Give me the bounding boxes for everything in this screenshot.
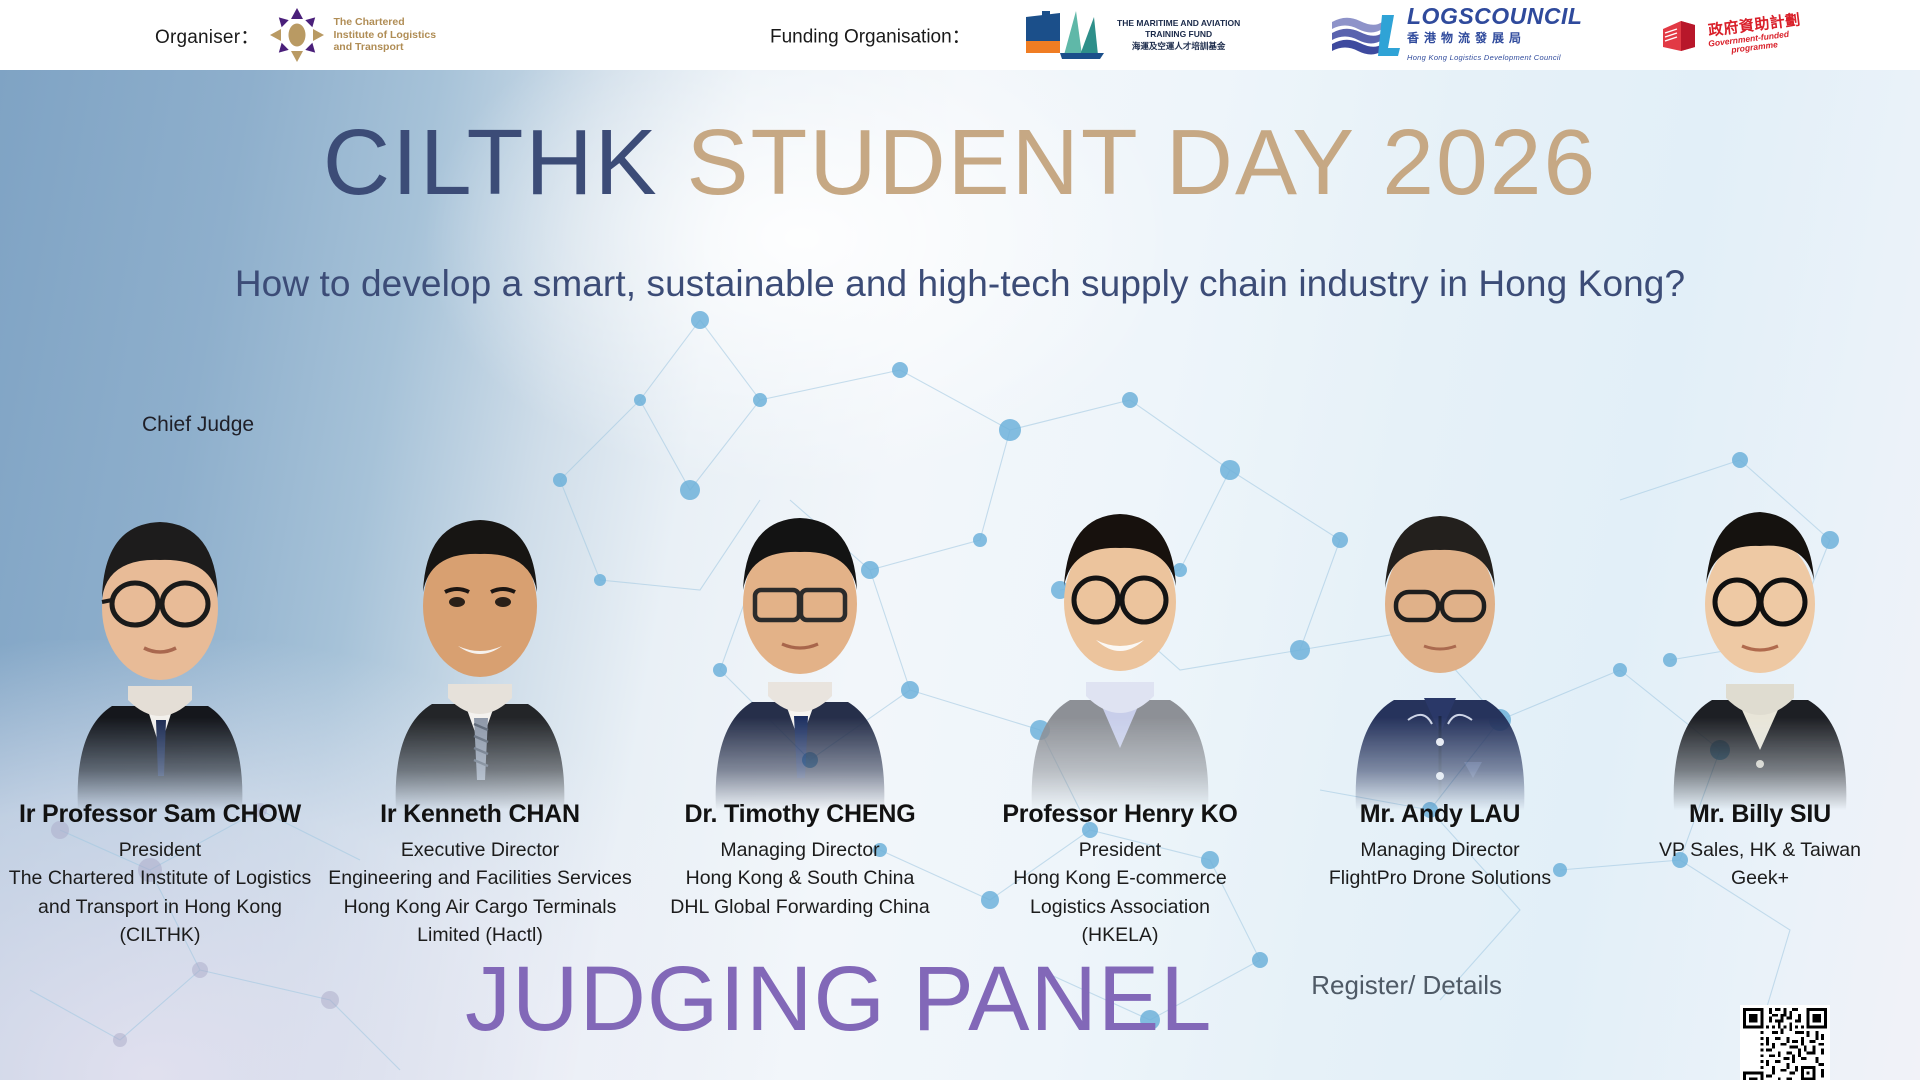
judge-detail-line: Engineering and Facilities Services	[328, 864, 632, 892]
judge-portrait-henry-ko	[960, 380, 1280, 810]
matf-line-3: 海運及空運人才培訓基金	[1132, 41, 1226, 51]
qr-code-icon[interactable]	[1740, 1005, 1830, 1080]
cilt-logo-text: The Chartered Institute of Logistics and…	[333, 16, 436, 53]
judge-detail-line: The Chartered Institute of Logistics	[8, 864, 312, 892]
judge-detail-line: VP Sales, HK & Taiwan	[1608, 836, 1912, 864]
judge-detail-line: and Transport in Hong Kong	[8, 893, 312, 921]
government-funded-programme-logo: 政府資助計劃 Government-funded programme	[1655, 15, 1801, 55]
logscouncil-chinese: 香港物流發展局	[1407, 31, 1526, 45]
judge-detail-line: Executive Director	[328, 836, 632, 864]
judge-card-andy-lau: Mr. Andy LAU Managing Director FlightPro…	[1280, 800, 1600, 950]
cilt-logo-line-2: Institute of Logistics	[333, 29, 436, 41]
maritime-aviation-training-fund-logo: THE MARITIME AND AVIATION TRAINING FUND …	[1020, 7, 1240, 63]
logscouncil-mark-icon	[1330, 12, 1400, 58]
portrait-photo	[674, 480, 926, 810]
portrait-photo	[34, 480, 286, 810]
funding-organisation-label: Funding Organisation：	[770, 22, 971, 49]
portrait-photo	[994, 480, 1246, 810]
matf-line-2: TRAINING FUND	[1145, 29, 1212, 39]
judge-portrait-billy-siu	[1600, 380, 1920, 810]
judge-name: Ir Professor Sam CHOW	[8, 800, 312, 829]
judge-name: Professor Henry KO	[968, 800, 1272, 829]
judge-card-timothy-cheng: Dr. Timothy CHENG Managing Director Hong…	[640, 800, 960, 950]
title-part-student-day: STUDENT DAY 2026	[686, 110, 1597, 214]
judge-card-henry-ko: Professor Henry KO President Hong Kong E…	[960, 800, 1280, 950]
logscouncil-logo: LOGSCOUNCIL 香港物流發展局 Hong Kong Logistics …	[1330, 5, 1582, 65]
judge-detail-line: Limited (Hactl)	[328, 921, 632, 949]
judge-info-row: Ir Professor Sam CHOW President The Char…	[0, 800, 1920, 950]
register-details-label: Register/ Details	[1311, 970, 1502, 1001]
chief-judge-label: Chief Judge	[142, 413, 254, 437]
portrait-photo	[1314, 480, 1566, 810]
judging-panel-heading: JUDGING PANEL	[465, 953, 1212, 1045]
logscouncil-subtitle: Hong Kong Logistics Development Council	[1407, 53, 1561, 62]
judge-name: Ir Kenneth CHAN	[328, 800, 632, 829]
judge-name: Mr. Andy LAU	[1288, 800, 1592, 829]
government-funded-mark-icon	[1655, 15, 1703, 55]
cilt-arrow-burst-icon	[269, 7, 325, 63]
sponsor-header-band: Organiser： The Chartered Institute of Lo…	[0, 0, 1920, 70]
judge-card-billy-siu: Mr. Billy SIU VP Sales, HK & Taiwan Geek…	[1600, 800, 1920, 950]
judge-detail-line: Hong Kong E-commerce	[968, 864, 1272, 892]
judge-detail-line: (HKELA)	[968, 921, 1272, 949]
judge-portrait-timothy-cheng	[640, 380, 960, 810]
judge-detail-line: Geek+	[1608, 864, 1912, 892]
organiser-block: Organiser： The Chartered Institute of Lo…	[155, 7, 436, 63]
judge-detail-line: President	[968, 836, 1272, 864]
judge-portrait-row	[0, 380, 1920, 810]
judge-portrait-sam-chow	[0, 380, 320, 810]
judge-portrait-andy-lau	[1280, 380, 1600, 810]
logscouncil-wordmark: LOGSCOUNCIL	[1407, 3, 1582, 29]
judge-detail-line: DHL Global Forwarding China	[648, 893, 952, 921]
judge-detail-line: Managing Director	[648, 836, 952, 864]
matf-mark-icon	[1020, 7, 1108, 63]
organiser-label: Organiser：	[155, 22, 259, 49]
qr-code-matrix	[1743, 1008, 1827, 1080]
cilt-logo: The Chartered Institute of Logistics and…	[269, 7, 436, 63]
poster-body: CILTHK STUDENT DAY 2026 How to develop a…	[0, 70, 1920, 1080]
cilt-logo-line-1: The Chartered	[333, 16, 404, 28]
government-funded-text: 政府資助計劃 Government-funded programme	[1708, 18, 1801, 52]
judge-detail-line: Managing Director	[1288, 836, 1592, 864]
judge-detail-line: Hong Kong Air Cargo Terminals	[328, 893, 632, 921]
judge-detail-line: Hong Kong & South China	[648, 864, 952, 892]
judge-name: Dr. Timothy CHENG	[648, 800, 952, 829]
poster-canvas: Organiser： The Chartered Institute of Lo…	[0, 0, 1920, 1080]
judge-detail-line: (CILTHK)	[8, 921, 312, 949]
cilt-logo-line-3: and Transport	[333, 41, 403, 53]
matf-line-1: THE MARITIME AND AVIATION	[1117, 18, 1240, 28]
judge-card-sam-chow: Ir Professor Sam CHOW President The Char…	[0, 800, 320, 950]
judge-detail-line: President	[8, 836, 312, 864]
poster-subtitle: How to develop a smart, sustainable and …	[0, 263, 1920, 305]
judge-portrait-kenneth-chan	[320, 380, 640, 810]
title-part-cilthk: CILTHK	[323, 110, 687, 214]
judge-name: Mr. Billy SIU	[1608, 800, 1912, 829]
portrait-photo	[1634, 480, 1886, 810]
matf-logo-text: THE MARITIME AND AVIATION TRAINING FUND …	[1117, 18, 1240, 52]
judge-card-kenneth-chan: Ir Kenneth CHAN Executive Director Engin…	[320, 800, 640, 950]
judge-detail-line: FlightPro Drone Solutions	[1288, 864, 1592, 892]
portrait-photo	[354, 480, 606, 810]
poster-title: CILTHK STUDENT DAY 2026	[0, 116, 1920, 209]
logscouncil-logo-text: LOGSCOUNCIL 香港物流發展局 Hong Kong Logistics …	[1407, 5, 1582, 65]
judge-detail-line: Logistics Association	[968, 893, 1272, 921]
